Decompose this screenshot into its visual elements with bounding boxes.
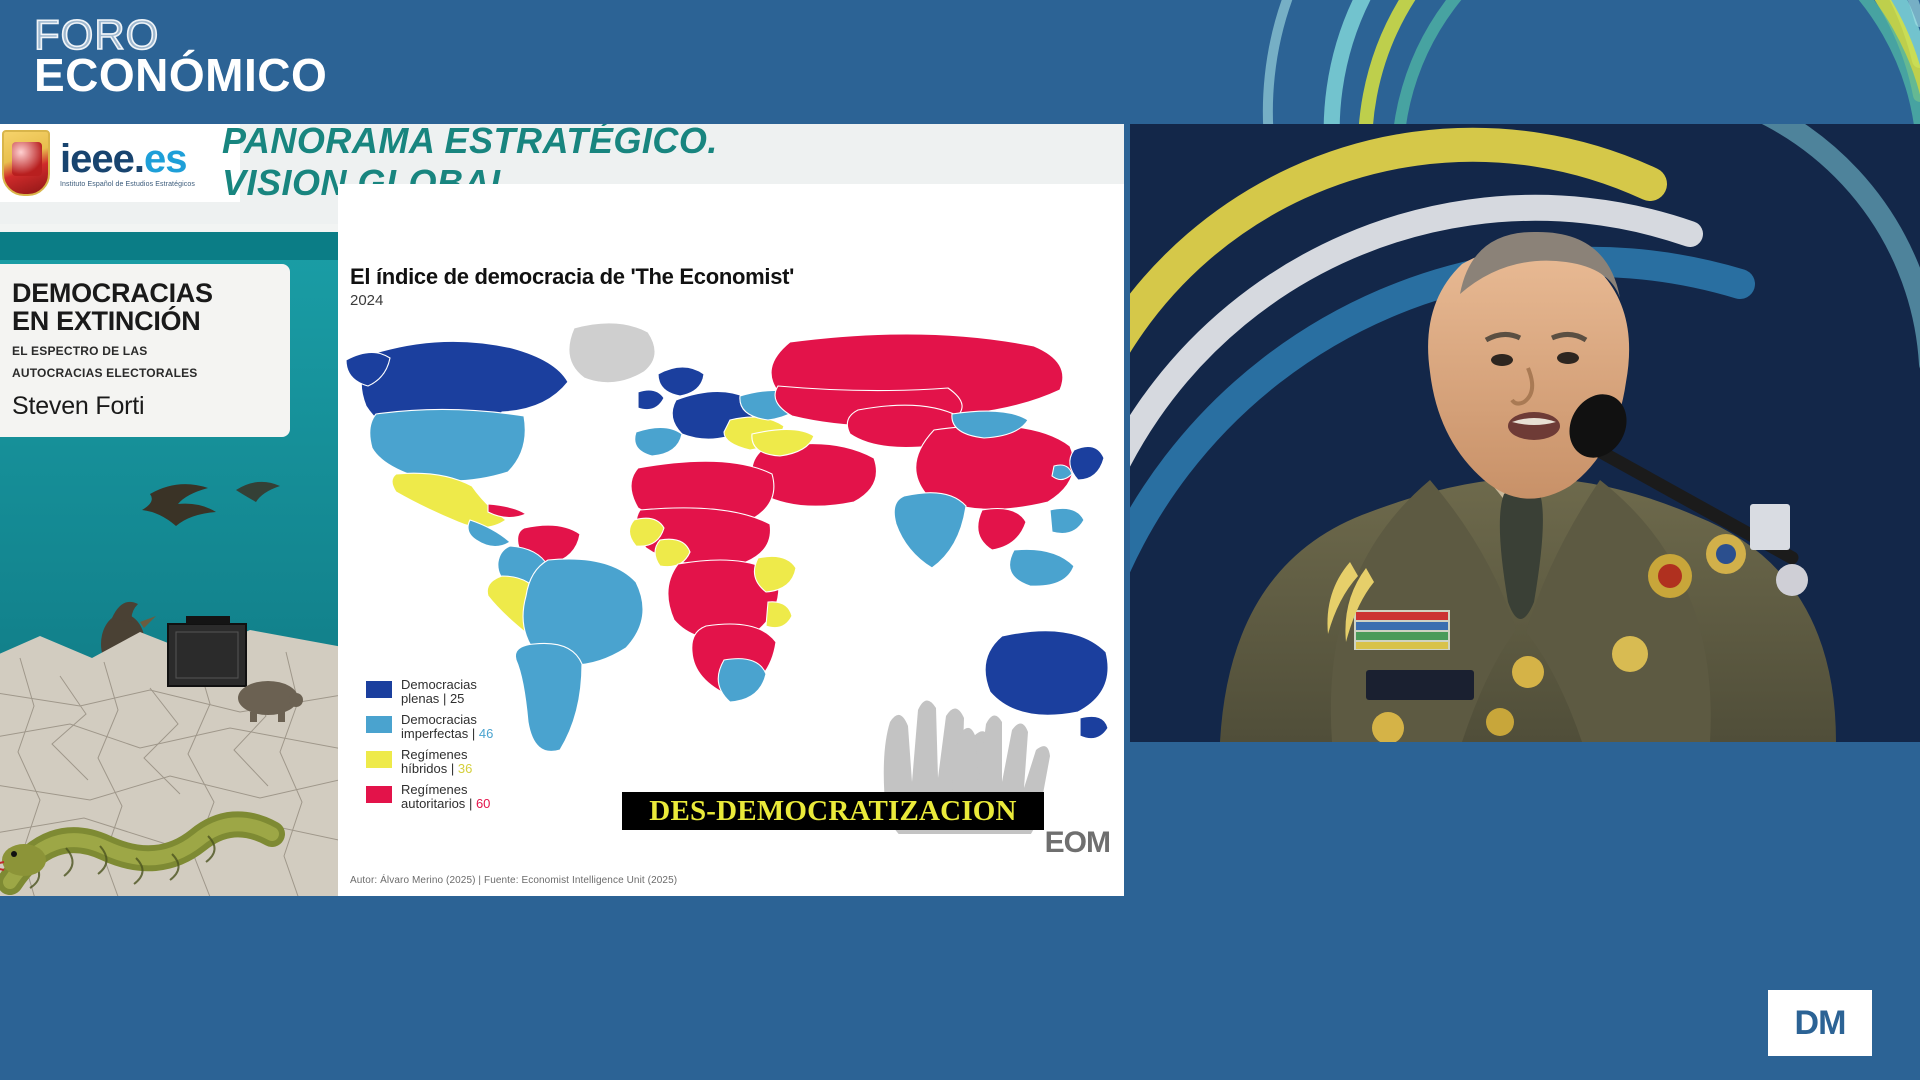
- region-usa: [370, 409, 526, 480]
- legend-value: 25: [450, 691, 464, 706]
- spanish-crest-icon: [2, 130, 50, 196]
- speaker-video-feed: [1130, 124, 1920, 742]
- ieee-logo-tld: es: [144, 137, 187, 181]
- legend-sep: |: [451, 761, 454, 776]
- region-japan: [1070, 446, 1104, 480]
- map-source-attribution: Autor: Álvaro Merino (2025) | Fuente: Ec…: [350, 875, 677, 886]
- book-cover: DEMOCRACIAS EN EXTINCIÓN EL ESPECTRO DE …: [0, 232, 338, 896]
- region-greenland: [569, 323, 655, 383]
- region-india: [894, 493, 966, 568]
- ieee-logo: ieee.es Instituto Español de Estudios Es…: [0, 124, 240, 202]
- legend-sep: |: [443, 691, 446, 706]
- legend-sep: |: [469, 796, 472, 811]
- presentation-slide: ieee.es Instituto Español de Estudios Es…: [0, 124, 1124, 896]
- legend-label-line1: Democracias: [401, 678, 477, 692]
- broadcast-screen: FORO ECONÓMICO ieee.es Instituto Español…: [0, 0, 1920, 1080]
- map-title: El índice de democracia de 'The Economis…: [350, 264, 794, 290]
- mouth: [1508, 412, 1560, 440]
- ieee-logo-dot: .: [134, 137, 144, 181]
- ieee-logo-tagline: Instituto Español de Estudios Estratégic…: [60, 181, 195, 188]
- book-title-line1: DEMOCRACIAS: [12, 280, 276, 308]
- legend-label-line2: plenas: [401, 691, 439, 706]
- legend-item: Regímenes híbridos | 36: [366, 748, 566, 776]
- book-top-band: [0, 232, 338, 260]
- legend-value: 36: [458, 761, 472, 776]
- region-scandinavia: [658, 367, 704, 396]
- democracy-index-map-card: El índice de democracia de 'The Economis…: [338, 184, 1124, 896]
- left-eye: [1491, 354, 1513, 366]
- ballot-box-icon: [168, 616, 246, 686]
- legend-label-line1: Democracias: [401, 713, 493, 727]
- legend-label-line2: híbridos: [401, 761, 447, 776]
- region-mexico: [392, 473, 506, 527]
- slide-title-line1: PANORAMA ESTRATÉGICO.: [222, 124, 922, 162]
- vulture-icon: [142, 482, 280, 526]
- legend-label-line1: Regímenes: [401, 783, 490, 797]
- video-frame: [1130, 124, 1920, 742]
- legend-swatch-democracias-imperfectas: [366, 716, 392, 733]
- legend-value: 60: [476, 796, 490, 811]
- book-subtitle-line1: EL ESPECTRO DE LAS: [12, 344, 276, 358]
- lower-background-bar: [0, 896, 1130, 1080]
- region-uk: [638, 390, 664, 410]
- eom-watermark: EOM: [1045, 826, 1110, 860]
- book-cover-illustration: [0, 462, 338, 896]
- region-indonesia: [1010, 549, 1074, 586]
- ieee-logo-name: ieee: [60, 137, 134, 181]
- dm-watermark-logo: DM: [1768, 990, 1872, 1056]
- legend-item: Democracias imperfectas | 46: [366, 713, 566, 741]
- brand-line-economico: ECONÓMICO: [34, 52, 327, 99]
- legend-label-line2: autoritarios: [401, 796, 465, 811]
- region-iberia: [635, 427, 682, 456]
- des-democratizacion-banner: DES-DEMOCRATIZACION: [622, 792, 1044, 830]
- shoulder-patch: [1750, 504, 1790, 550]
- legend-swatch-regimenes-autoritarios: [366, 786, 392, 803]
- legend-swatch-regimenes-hibridos: [366, 751, 392, 768]
- broadcast-brand: FORO ECONÓMICO: [34, 14, 327, 99]
- book-subtitle-line2: AUTOCRACIAS ELECTORALES: [12, 366, 276, 380]
- region-philippines: [1050, 508, 1084, 533]
- legend-swatch-democracias-plenas: [366, 681, 392, 698]
- name-tag: [1366, 670, 1474, 700]
- book-title-line2: EN EXTINCIÓN: [12, 308, 276, 336]
- map-subtitle: 2024: [350, 292, 383, 309]
- region-indochina: [978, 509, 1026, 551]
- right-eye: [1557, 352, 1579, 364]
- region-east-africa: [754, 556, 796, 592]
- legend-value: 46: [479, 726, 493, 741]
- book-author: Steven Forti: [12, 392, 276, 421]
- legend-label-line1: Regímenes: [401, 748, 472, 762]
- dm-logo-text: DM: [1795, 1004, 1846, 1043]
- region-australia: [985, 631, 1108, 716]
- legend-sep: |: [472, 726, 475, 741]
- legend-item: Regímenes autoritarios | 60: [366, 783, 566, 811]
- book-title-card: DEMOCRACIAS EN EXTINCIÓN EL ESPECTRO DE …: [0, 264, 290, 437]
- region-madagascar: [766, 602, 792, 628]
- region-new-zealand: [1080, 716, 1108, 738]
- legend-label-line2: imperfectas: [401, 726, 468, 741]
- map-legend: Democracias plenas | 25 Democracias impe…: [366, 678, 566, 818]
- legend-item: Democracias plenas | 25: [366, 678, 566, 706]
- banner-text: DES-DEMOCRATIZACION: [649, 795, 1016, 828]
- region-south-africa: [718, 659, 766, 702]
